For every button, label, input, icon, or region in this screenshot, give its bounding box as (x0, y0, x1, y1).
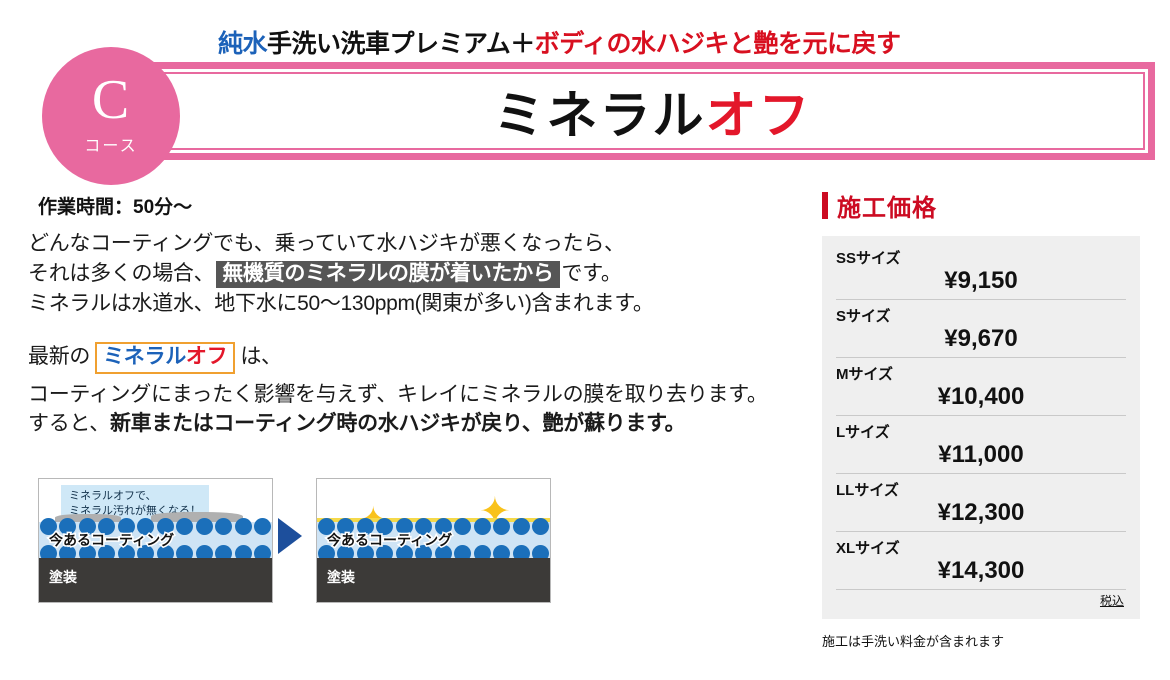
coating-layer-after: 今あるコーティング (317, 522, 550, 558)
table-row: XLサイズ ¥14,300 (836, 532, 1126, 590)
price-size-label: Sサイズ (836, 305, 1126, 326)
line-2-suffix: です。 (562, 262, 622, 285)
paint-layer-label: 塗装 (327, 567, 355, 587)
line-3-bold: 新車またはコーティング時の水ハジキが戻り、艶が蘇ります。 (110, 412, 685, 435)
course-title-box: ミネラルオフ (150, 62, 1155, 160)
tagline: 純水手洗い洗車プレミアム＋ボディの水ハジキと艶を元に戻す (218, 24, 901, 60)
price-panel: 施工価格 SSサイズ ¥9,150 Sサイズ ¥9,670 Mサイズ ¥10,4… (822, 188, 1152, 650)
tagline-red: ボディの水ハジキと艶を元に戻す (535, 30, 901, 58)
price-heading-label: 施工価格 (837, 188, 937, 223)
tagline-blue: 純水 (218, 30, 267, 58)
tax-included-note: 税込 (836, 590, 1126, 615)
work-time-label: 作業時間：50分〜 (38, 192, 800, 219)
line-3-prefix: すると、 (28, 412, 110, 435)
price-heading: 施工価格 (822, 188, 1152, 223)
price-footnote: 施工は手洗い料金が含まれます (822, 631, 1152, 650)
course-title-red: オフ (706, 74, 812, 148)
description-column: 作業時間：50分〜 どんなコーティングでも、乗っていて水ハジキが悪くなったら、 … (0, 192, 800, 439)
course-title: ミネラルオフ (157, 69, 1148, 153)
callout-line-1: ミネラルオフで、 (69, 489, 201, 504)
tagline-black: 手洗い洗車プレミアム＋ (267, 30, 535, 58)
price-value: ¥12,300 (836, 499, 1126, 527)
paint-layer-before: 塗装 (39, 558, 272, 602)
course-badge: C コース (42, 47, 180, 185)
paragraph-two: 最新のミネラルオフは、 コーティングにまったく影響を与えず、キレイにミネラルの膜… (28, 342, 800, 439)
table-row: Mサイズ ¥10,400 (836, 358, 1126, 416)
paragraph-one-line-2: それは多くの場合、無機質のミネラルの膜が着いたからです。 (28, 259, 800, 289)
price-size-label: Lサイズ (836, 421, 1126, 442)
table-row: SSサイズ ¥9,150 (836, 242, 1126, 300)
line-1-prefix: 最新の (28, 345, 90, 368)
paragraph-one-line-3: ミネラルは水道水、地下水に50〜130ppm(関東が多い)含まれます。 (28, 289, 800, 319)
coating-layer-before: 今あるコーティング (39, 522, 272, 558)
course-title-black: ミネラル (493, 74, 705, 148)
mineral-off-badge-red: オフ (186, 345, 227, 368)
line-2-prefix: それは多くの場合、 (28, 262, 214, 285)
paint-layer-label: 塗装 (49, 567, 77, 587)
price-heading-accent-bar (822, 192, 828, 219)
price-value: ¥10,400 (836, 383, 1126, 411)
coating-layer-label: 今あるコーティング (327, 530, 452, 550)
course-badge-letter: C (92, 72, 130, 128)
coating-layer-label: 今あるコーティング (49, 530, 174, 550)
price-value: ¥9,670 (836, 325, 1126, 353)
diagram-after: ✦ ✕ ✦ 今あるコーティング 塗装 (316, 478, 551, 603)
paragraph-two-line-3: すると、新車またはコーティング時の水ハジキが戻り、艶が蘇ります。 (28, 409, 800, 439)
paragraph-one-line-1: どんなコーティングでも、乗っていて水ハジキが悪くなったら、 (28, 229, 800, 259)
table-row: LLサイズ ¥12,300 (836, 474, 1126, 532)
page-header: 純水手洗い洗車プレミアム＋ボディの水ハジキと艶を元に戻す ミネラルオフ C コー… (0, 0, 1170, 180)
course-badge-sublabel: コース (84, 132, 137, 156)
transition-arrow-icon (278, 518, 302, 554)
mineral-film-highlight: 無機質のミネラルの膜が着いたから (216, 261, 559, 288)
price-value: ¥9,150 (836, 267, 1126, 295)
price-size-label: LLサイズ (836, 479, 1126, 500)
mineral-off-badge-blue: ミネラル (103, 345, 186, 368)
price-size-label: XLサイズ (836, 537, 1126, 558)
line-1-suffix: は、 (240, 345, 281, 368)
price-size-label: SSサイズ (836, 247, 1126, 268)
table-row: Sサイズ ¥9,670 (836, 300, 1126, 358)
paint-layer-after: 塗装 (317, 558, 550, 602)
price-value: ¥14,300 (836, 557, 1126, 585)
mineral-off-badge: ミネラルオフ (95, 342, 235, 373)
price-size-label: Mサイズ (836, 363, 1126, 384)
price-table: SSサイズ ¥9,150 Sサイズ ¥9,670 Mサイズ ¥10,400 Lサ… (822, 236, 1140, 619)
price-value: ¥11,000 (836, 441, 1126, 469)
table-row: Lサイズ ¥11,000 (836, 416, 1126, 474)
diagram-before: ミネラルオフで、 ミネラル汚れが無くなる！ 今あるコーティング 塗装 (38, 478, 273, 603)
paragraph-two-line-1: 最新のミネラルオフは、 (28, 342, 800, 373)
paragraph-two-line-2: コーティングにまったく影響を与えず、キレイにミネラルの膜を取り去ります。 (28, 380, 800, 410)
paragraph-one: どんなコーティングでも、乗っていて水ハジキが悪くなったら、 それは多くの場合、無… (28, 229, 800, 318)
